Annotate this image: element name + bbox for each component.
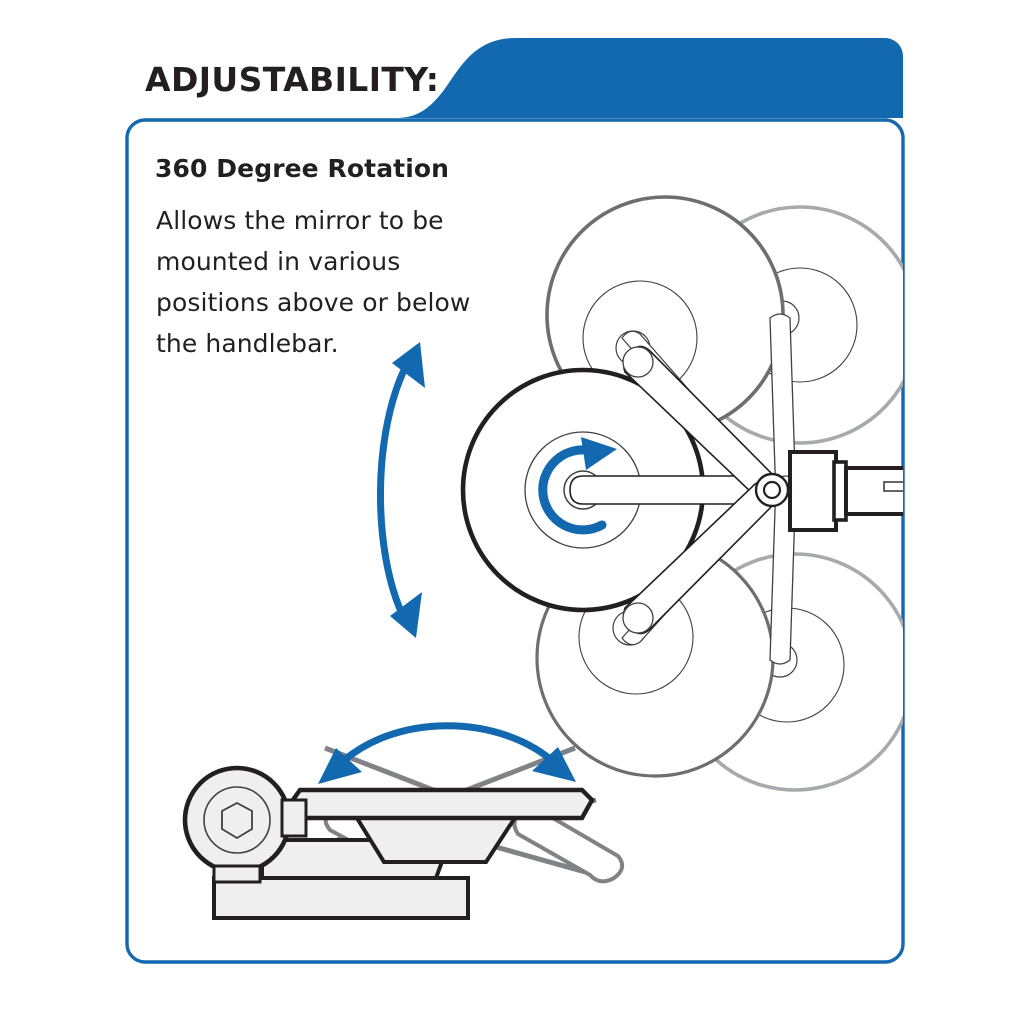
banner-title: ADJUSTABILITY: (145, 60, 439, 99)
handlebar-clamp-assembly (790, 452, 960, 530)
adjustability-illustration (0, 0, 1024, 1024)
illustration-canvas: ADJUSTABILITY: 360 Degree Rotation Allow… (0, 0, 1024, 1024)
feature-heading: 360 Degree Rotation (155, 154, 449, 183)
header-banner (396, 38, 903, 118)
rotation-range-arrow (380, 342, 425, 638)
side-view-mount-diagram (185, 726, 622, 918)
hex-bolt-head (185, 768, 289, 872)
tilt-range-arrow (318, 726, 576, 784)
feature-description: Allows the mirror to be mounted in vario… (156, 200, 496, 364)
